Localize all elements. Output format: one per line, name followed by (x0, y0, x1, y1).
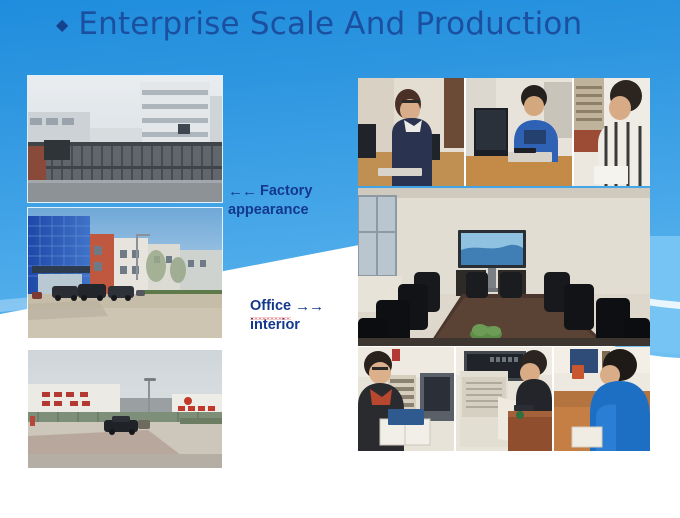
right-arrow-icon: →→ (295, 297, 323, 316)
callout-office-interior: Office →→ interior (250, 297, 328, 335)
callout-factory-appearance: ←← Factory appearance (228, 182, 313, 220)
slide-canvas: ◆ Enterprise Scale And Production (0, 0, 680, 518)
slide-title-row: ◆ Enterprise Scale And Production (56, 6, 582, 42)
callout-factory-line1: Factory (260, 182, 312, 201)
callout-office-line1: Office (250, 297, 291, 316)
meeting-room-photo[interactable] (358, 188, 650, 346)
page-title: Enterprise Scale And Production (78, 6, 582, 42)
callout-factory-line2: appearance (228, 201, 309, 220)
bullet-diamond-icon: ◆ (56, 18, 68, 34)
left-arrow-icon: ←← (228, 182, 256, 201)
factory-yard-signage-photo[interactable] (28, 350, 222, 468)
office-staff-strip-photo[interactable] (358, 78, 650, 186)
blue-factory-building-photo[interactable] (28, 208, 222, 338)
office-workstations-strip-photo[interactable] (358, 347, 650, 451)
factory-gate-photo[interactable] (28, 76, 222, 202)
